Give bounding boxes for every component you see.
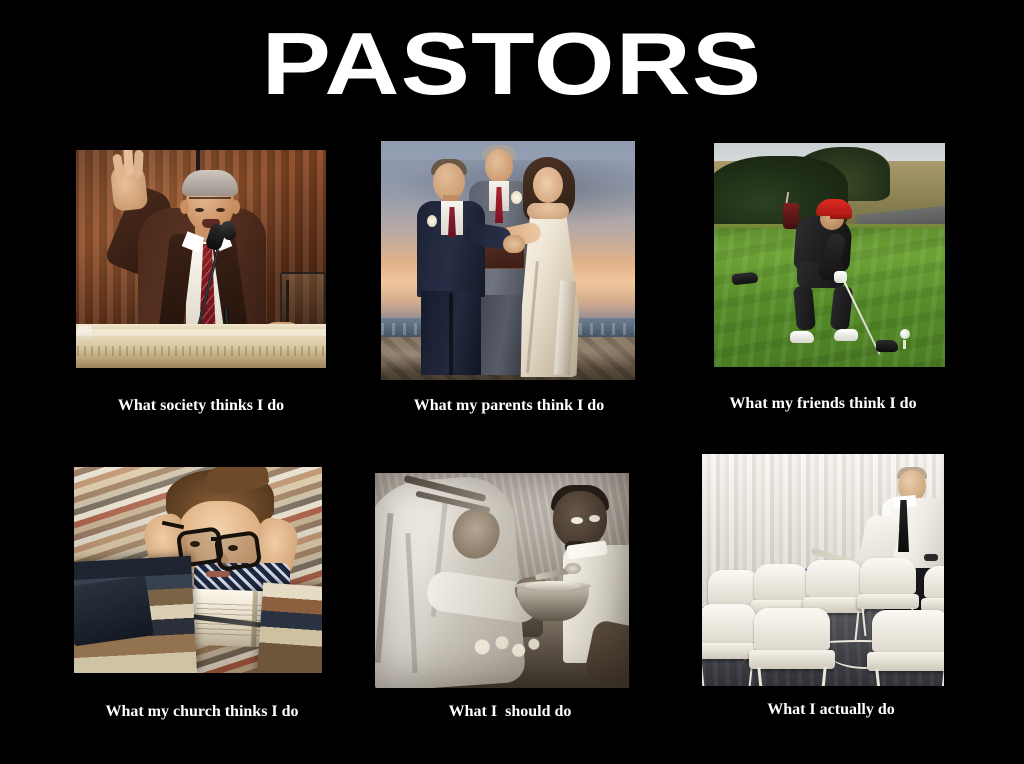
preacher-finger	[123, 150, 134, 176]
driver-clubhead	[876, 340, 898, 352]
cap-brim	[830, 212, 852, 219]
golf-ball	[900, 329, 910, 339]
officiant-boutonniere	[511, 191, 522, 204]
officiant-head	[485, 149, 513, 183]
vignette	[375, 473, 629, 688]
chair-back	[806, 560, 862, 597]
chair-leg	[702, 658, 705, 686]
panel-image-friends	[714, 143, 945, 367]
preacher-eye	[195, 208, 204, 212]
trouser-seam	[449, 293, 453, 375]
golf-shoe	[790, 331, 814, 343]
panel-caption-friends: What my friends think I do	[664, 394, 982, 414]
chair-back	[754, 608, 830, 650]
chair-back	[702, 604, 756, 643]
chair-leg	[875, 669, 882, 686]
preacher-ear	[180, 200, 189, 214]
panel-caption-should: What I should do	[350, 702, 670, 722]
chair-back	[754, 564, 808, 600]
folding-chair	[702, 604, 756, 686]
student-mouth	[206, 571, 230, 577]
groom-boutonniere	[427, 215, 437, 227]
chair-leg	[940, 669, 944, 686]
pulpit	[76, 329, 326, 368]
panel-caption-parents: What my parents think I do	[348, 396, 670, 416]
golfer-leg	[793, 286, 816, 331]
chair-seat	[857, 594, 920, 610]
bride-shoulders	[527, 203, 569, 219]
preacher-glasses	[189, 197, 231, 208]
held-hands	[503, 235, 525, 253]
preacher-hair	[182, 170, 238, 196]
meme-title: PASTORS	[0, 16, 1024, 112]
eyeglasses-bridge	[211, 537, 221, 541]
preacher-eye	[216, 208, 225, 212]
book-cover-foreground	[74, 576, 154, 647]
chair-leg	[757, 667, 764, 686]
officiant-trousers	[473, 295, 527, 375]
preacher-finger	[133, 150, 143, 178]
panel-image-parents	[381, 141, 635, 380]
chair-back	[872, 610, 944, 652]
bride-face	[536, 171, 560, 201]
folding-chair	[872, 610, 944, 686]
panel-image-actually	[702, 454, 944, 686]
panel-caption-actually: What I actually do	[670, 700, 992, 720]
chair-seat	[867, 652, 944, 670]
book-stack-right	[257, 582, 322, 673]
chair-back	[860, 558, 916, 594]
chair-seat	[749, 650, 834, 668]
panel-caption-society: What society thinks I do	[40, 396, 362, 416]
panel-caption-church: What my church thinks I do	[30, 702, 374, 722]
golf-shoe	[834, 329, 858, 341]
folding-chair	[754, 608, 830, 686]
preacher-ear	[231, 200, 240, 214]
panel-image-society	[76, 150, 326, 368]
chair-back	[924, 566, 944, 598]
wristwatch	[924, 554, 938, 561]
chair-leg	[821, 667, 828, 686]
golf-tee	[903, 340, 906, 349]
water-glass	[78, 326, 92, 342]
panel-image-church	[74, 467, 322, 673]
chair-leg	[862, 608, 867, 636]
panel-image-should	[375, 473, 629, 688]
meme-image: PASTORS What socie	[0, 0, 1024, 764]
